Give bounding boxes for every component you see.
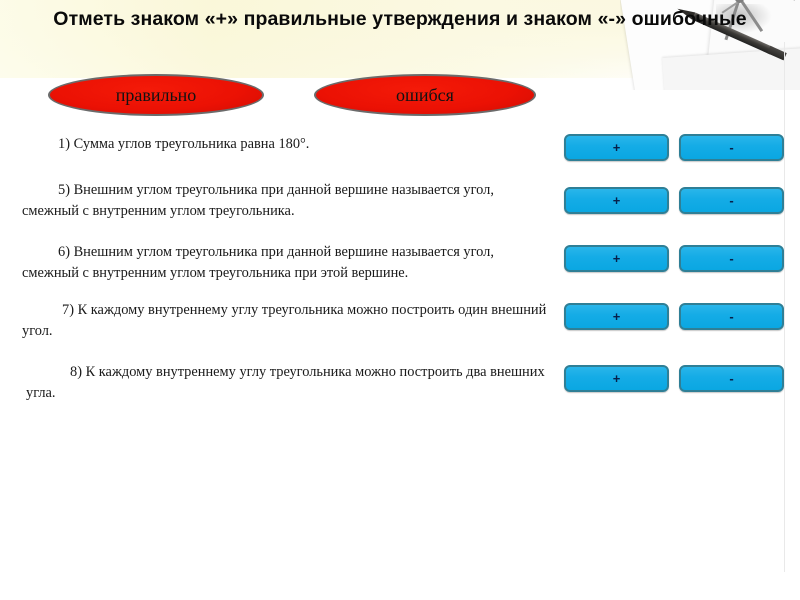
answer-row: + -: [564, 245, 784, 272]
plus-button[interactable]: +: [564, 365, 669, 392]
legend-correct-label: правильно: [116, 85, 197, 106]
right-edge-divider: [784, 42, 785, 572]
answer-row: + -: [564, 187, 784, 214]
answer-row: + -: [564, 303, 784, 330]
minus-button[interactable]: -: [679, 303, 784, 330]
statement-item: 5) Внешним углом треугольника при данной…: [22, 180, 554, 222]
plus-button[interactable]: +: [564, 187, 669, 214]
legend-correct-oval[interactable]: правильно: [48, 74, 264, 116]
slide-canvas: Отметь знаком «+» правильные утверждения…: [0, 0, 800, 600]
minus-button[interactable]: -: [679, 134, 784, 161]
plus-button[interactable]: +: [564, 245, 669, 272]
statement-item: 1) Сумма углов треугольника равна 180°.: [22, 134, 532, 155]
minus-button[interactable]: -: [679, 187, 784, 214]
legend-wrong-oval[interactable]: ошибся: [314, 74, 536, 116]
page-title: Отметь знаком «+» правильные утверждения…: [6, 6, 794, 32]
answer-row: + -: [564, 134, 784, 161]
plus-button[interactable]: +: [564, 303, 669, 330]
legend-wrong-label: ошибся: [396, 85, 454, 106]
statement-item: 8) К каждому внутреннему углу треугольни…: [22, 362, 558, 404]
minus-button[interactable]: -: [679, 365, 784, 392]
answer-row: + -: [564, 365, 784, 392]
minus-button[interactable]: -: [679, 245, 784, 272]
statement-item: 6) Внешним углом треугольника при данной…: [22, 242, 554, 284]
statement-item: 7) К каждому внутреннему углу треугольни…: [22, 300, 554, 342]
plus-button[interactable]: +: [564, 134, 669, 161]
